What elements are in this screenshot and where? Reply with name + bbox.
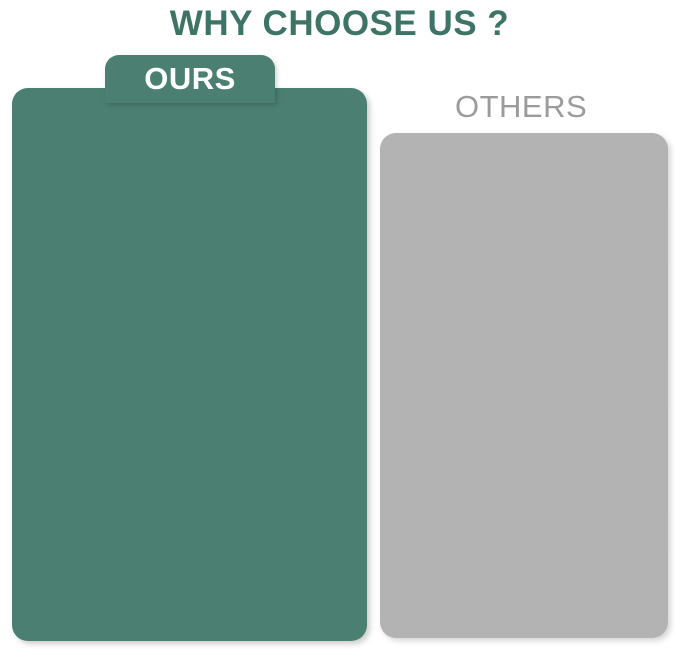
others-panel bbox=[380, 133, 668, 638]
others-heading: OTHERS bbox=[455, 88, 665, 126]
ours-panel bbox=[12, 88, 367, 641]
page-title: WHY CHOOSE US ? bbox=[0, 2, 679, 46]
ours-tab: OURS bbox=[105, 55, 275, 103]
ours-tab-label: OURS bbox=[105, 61, 275, 97]
